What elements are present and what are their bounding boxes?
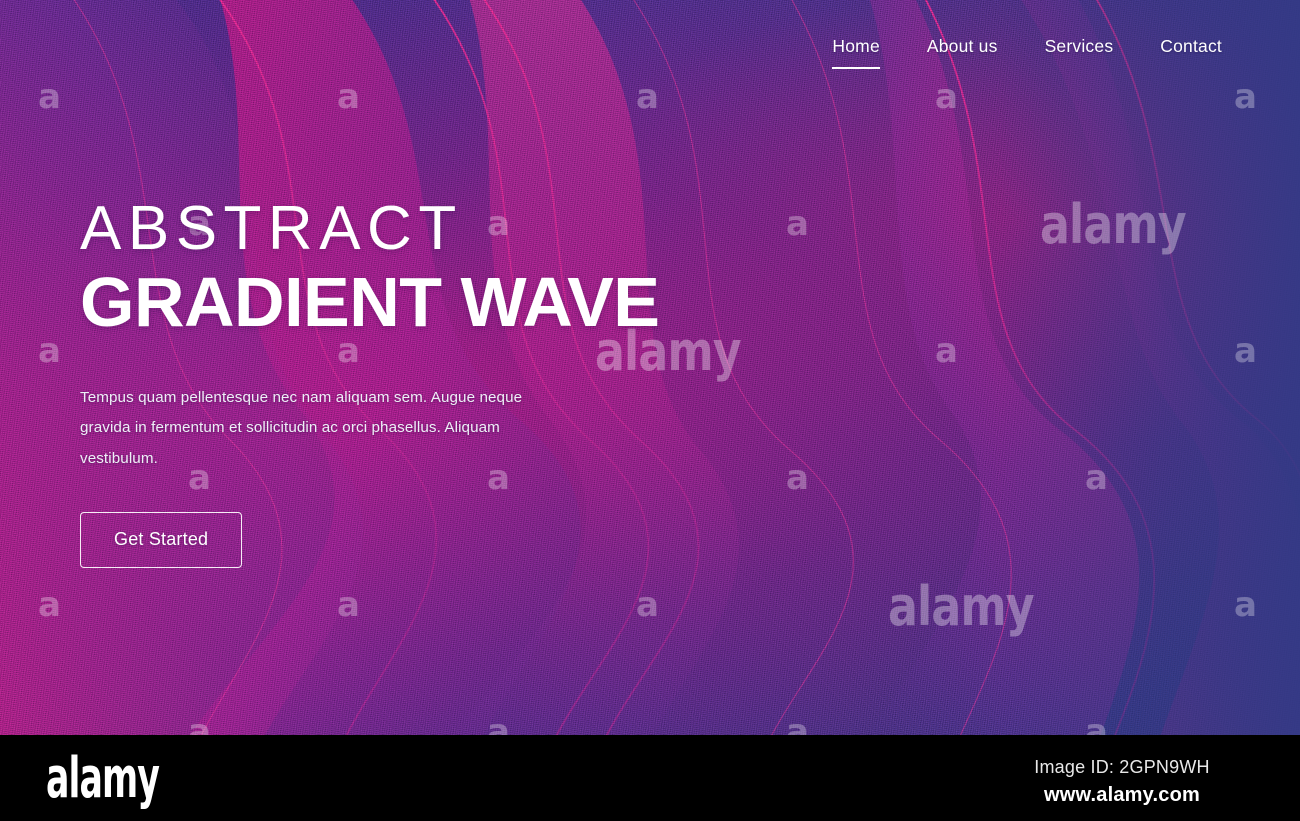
hero-description: Tempus quam pellentesque nec nam aliquam… [80, 383, 555, 474]
hero-banner: Home About us Services Contact ABSTRACT … [0, 0, 1300, 735]
alamy-logo: alamy [46, 751, 159, 807]
nav-link-home[interactable]: Home [832, 36, 879, 59]
hero-content: ABSTRACT GRADIENT WAVE Tempus quam pelle… [80, 198, 720, 568]
landing-page-screenshot: Home About us Services Contact ABSTRACT … [0, 0, 1300, 821]
alamy-url: www.alamy.com [972, 784, 1272, 807]
nav-link-about-us[interactable]: About us [927, 36, 998, 59]
right-edge-vignette [1000, 0, 1300, 735]
hero-title-line1: ABSTRACT [80, 198, 720, 260]
get-started-button[interactable]: Get Started [80, 512, 242, 568]
nav-link-services[interactable]: Services [1045, 36, 1114, 59]
image-id-label: Image ID: 2GPN9WH [972, 757, 1272, 778]
footer-meta: Image ID: 2GPN9WH www.alamy.com [972, 757, 1272, 807]
nav-link-contact[interactable]: Contact [1160, 36, 1222, 59]
hero-title-line2: GRADIENT WAVE [80, 266, 720, 339]
alamy-footer-bar: alamy Image ID: 2GPN9WH www.alamy.com [0, 735, 1300, 821]
main-navigation[interactable]: Home About us Services Contact [832, 36, 1222, 59]
